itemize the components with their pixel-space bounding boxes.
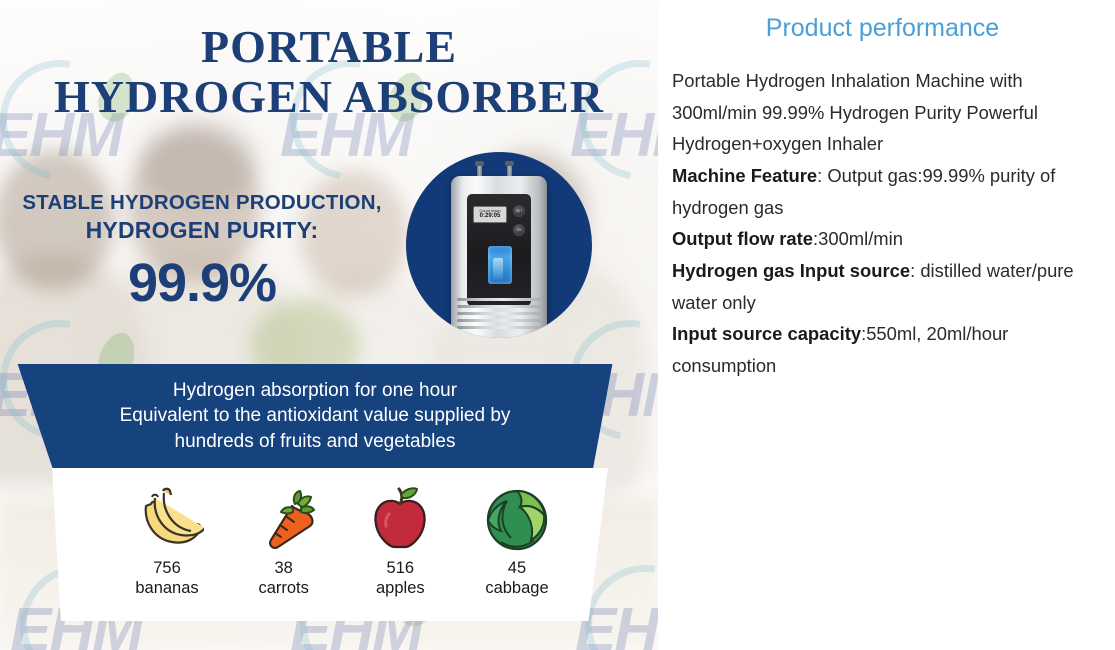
device-body: Count down 0:29:05 SET ON bbox=[451, 176, 547, 338]
equivalence-unit: cabbage bbox=[462, 578, 572, 598]
banner-line-2: Equivalent to the antioxidant value supp… bbox=[120, 403, 511, 428]
product-detail-page: EHM EHM EHM EHM EHM EHM EHM bbox=[0, 0, 1115, 650]
performance-intro: Portable Hydrogen Inhalation Machine wit… bbox=[672, 65, 1093, 160]
equivalence-unit: carrots bbox=[229, 578, 339, 598]
spec-separator: : bbox=[910, 260, 920, 281]
water-chamber-window bbox=[488, 246, 512, 284]
equivalence-item-bananas: 756 bananas bbox=[112, 480, 222, 598]
cabbage-icon bbox=[462, 480, 572, 558]
equivalence-count: 756 bbox=[112, 558, 222, 578]
equivalence-item-carrots: 38 carrots bbox=[229, 480, 339, 598]
device-photo-circle: Count down 0:29:05 SET ON bbox=[406, 152, 592, 338]
spec-output-flow-rate: Output flow rate:300ml/min bbox=[672, 223, 1093, 255]
spec-machine-feature: Machine Feature: Output gas:99.99% purit… bbox=[672, 160, 1093, 223]
spec-label: Output flow rate bbox=[672, 228, 813, 249]
product-infographic-image: EHM EHM EHM EHM EHM EHM EHM bbox=[0, 0, 658, 650]
equivalence-count: 38 bbox=[229, 558, 339, 578]
device-lcd-display: Count down 0:29:05 bbox=[473, 206, 507, 223]
title-line-1: PORTABLE bbox=[0, 22, 658, 72]
device-power-button: ON bbox=[513, 224, 525, 236]
carrot-icon bbox=[229, 480, 339, 558]
banner-line-3: hundreds of fruits and vegetables bbox=[120, 429, 511, 454]
spec-separator: : bbox=[817, 165, 827, 186]
purity-callout: STABLE HYDROGEN PRODUCTION, HYDROGEN PUR… bbox=[18, 190, 386, 314]
banana-icon bbox=[112, 480, 222, 558]
antioxidant-banner: Hydrogen absorption for one hour Equival… bbox=[14, 364, 616, 468]
spec-input-capacity: Input source capacity:550ml, 20ml/hour c… bbox=[672, 318, 1093, 381]
product-performance-panel: Product performance Portable Hydrogen In… bbox=[658, 0, 1115, 650]
purity-value: 99.9% bbox=[18, 252, 386, 314]
banner-line-1: Hydrogen absorption for one hour bbox=[120, 378, 511, 403]
spec-label: Hydrogen gas Input source bbox=[672, 260, 910, 281]
spec-label: Input source capacity bbox=[672, 323, 861, 344]
fruit-equivalence-card: 756 bananas bbox=[52, 468, 608, 621]
purity-subtitle-line-1: STABLE HYDROGEN PRODUCTION, bbox=[18, 190, 386, 216]
fruit-equivalence-row: 756 bananas bbox=[112, 480, 572, 598]
lcd-countdown-time: 0:29:05 bbox=[480, 213, 501, 220]
spec-value: 300ml/min bbox=[818, 228, 903, 249]
equivalence-count: 45 bbox=[462, 558, 572, 578]
equivalence-count: 516 bbox=[345, 558, 455, 578]
hydrogen-machine-illustration: Count down 0:29:05 SET ON bbox=[451, 164, 547, 338]
apple-icon bbox=[345, 480, 455, 558]
title-line-2: HYDROGEN ABSORBER bbox=[0, 72, 658, 122]
purity-subtitle-line-2: HYDROGEN PURITY: bbox=[18, 216, 386, 245]
equivalence-item-apples: 516 apples bbox=[345, 480, 455, 598]
device-set-button: SET bbox=[513, 205, 525, 217]
device-front-panel: Count down 0:29:05 SET ON bbox=[467, 194, 531, 306]
product-performance-heading: Product performance bbox=[672, 14, 1093, 43]
product-performance-body: Portable Hydrogen Inhalation Machine wit… bbox=[672, 65, 1093, 382]
spec-label: Machine Feature bbox=[672, 165, 817, 186]
equivalence-unit: bananas bbox=[112, 578, 222, 598]
infographic-title: PORTABLE HYDROGEN ABSORBER bbox=[0, 22, 658, 121]
spec-input-source: Hydrogen gas Input source: distilled wat… bbox=[672, 255, 1093, 318]
equivalence-item-cabbage: 45 cabbage bbox=[462, 480, 572, 598]
device-vent-fins bbox=[457, 298, 541, 332]
equivalence-unit: apples bbox=[345, 578, 455, 598]
